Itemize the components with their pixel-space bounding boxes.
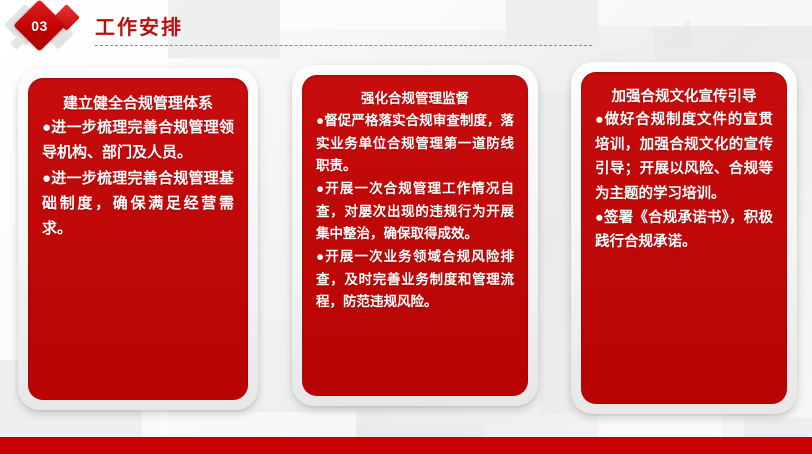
card-2-body: ●督促严格落实合规审查制度，落实业务单位合规管理第一道防线职责。 ●开展一次合规… — [316, 110, 514, 314]
content-card-2[interactable]: 强化合规管理监督 ●督促严格落实合规审查制度，落实业务单位合规管理第一道防线职责… — [292, 65, 538, 406]
card-1-heading: 建立健全合规管理体系 — [42, 92, 234, 115]
content-card-1[interactable]: 建立健全合规管理体系 ●进一步梳理完善合规管理领导机构、部门及人员。 ●进一步梳… — [18, 68, 258, 410]
card-3-heading: 加强合规文化宣传引导 — [595, 86, 773, 108]
footer-accent-bar — [0, 437, 812, 454]
card-2-inner: 强化合规管理监督 ●督促严格落实合规审查制度，落实业务单位合规管理第一道防线职责… — [302, 75, 528, 396]
page-title: 工作安排 — [95, 11, 183, 40]
card-1-bullet-1: ●进一步梳理完善合规管理领导机构、部门及人员。 — [42, 115, 234, 165]
card-3-body: ●做好合规制度文件的宣贯培训，加强合规文化的宣传引导；开展以风险、合规等为主题的… — [595, 108, 773, 254]
card-1-body: ●进一步梳理完善合规管理领导机构、部门及人员。 ●进一步梳理完善合规管理基础制度… — [42, 115, 234, 241]
slide-canvas: 03 工作安排 建立健全合规管理体系 ●进一步梳理完善合规管理领导机构、部门及人… — [0, 0, 812, 454]
header-divider — [95, 45, 592, 46]
card-3-bullet-2: ●签署《合规承诺书》，积极践行合规承诺。 — [595, 206, 773, 255]
slide-header: 03 工作安排 — [0, 0, 812, 58]
card-1-inner: 建立健全合规管理体系 ●进一步梳理完善合规管理领导机构、部门及人员。 ●进一步梳… — [28, 78, 248, 400]
card-1-bullet-2: ●进一步梳理完善合规管理基础制度，确保满足经营需求。 — [42, 166, 234, 242]
bg-panel-12 — [540, 92, 574, 414]
card-2-bullet-1: ●督促严格落实合规审查制度，落实业务单位合规管理第一道防线职责。 — [316, 110, 514, 178]
section-number: 03 — [21, 7, 58, 44]
card-3-bullet-1: ●做好合规制度文件的宣贯培训，加强合规文化的宣传引导；开展以风险、合规等为主题的… — [595, 108, 773, 205]
card-2-bullet-2: ●开展一次合规管理工作情况自查，对屡次出现的违规行为开展集中整治，确保取得成效。 — [316, 178, 514, 246]
content-card-3[interactable]: 加强合规文化宣传引导 ●做好合规制度文件的宣贯培训，加强合规文化的宣传引导；开展… — [571, 62, 797, 414]
card-2-heading: 强化合规管理监督 — [316, 89, 514, 110]
card-2-bullet-3: ●开展一次业务领域合规风险排查，及时完善业务制度和管理流程，防范违规风险。 — [316, 246, 514, 314]
bg-panel-10 — [598, 412, 722, 438]
card-3-inner: 加强合规文化宣传引导 ●做好合规制度文件的宣贯培训，加强合规文化的宣传引导；开展… — [581, 72, 787, 404]
